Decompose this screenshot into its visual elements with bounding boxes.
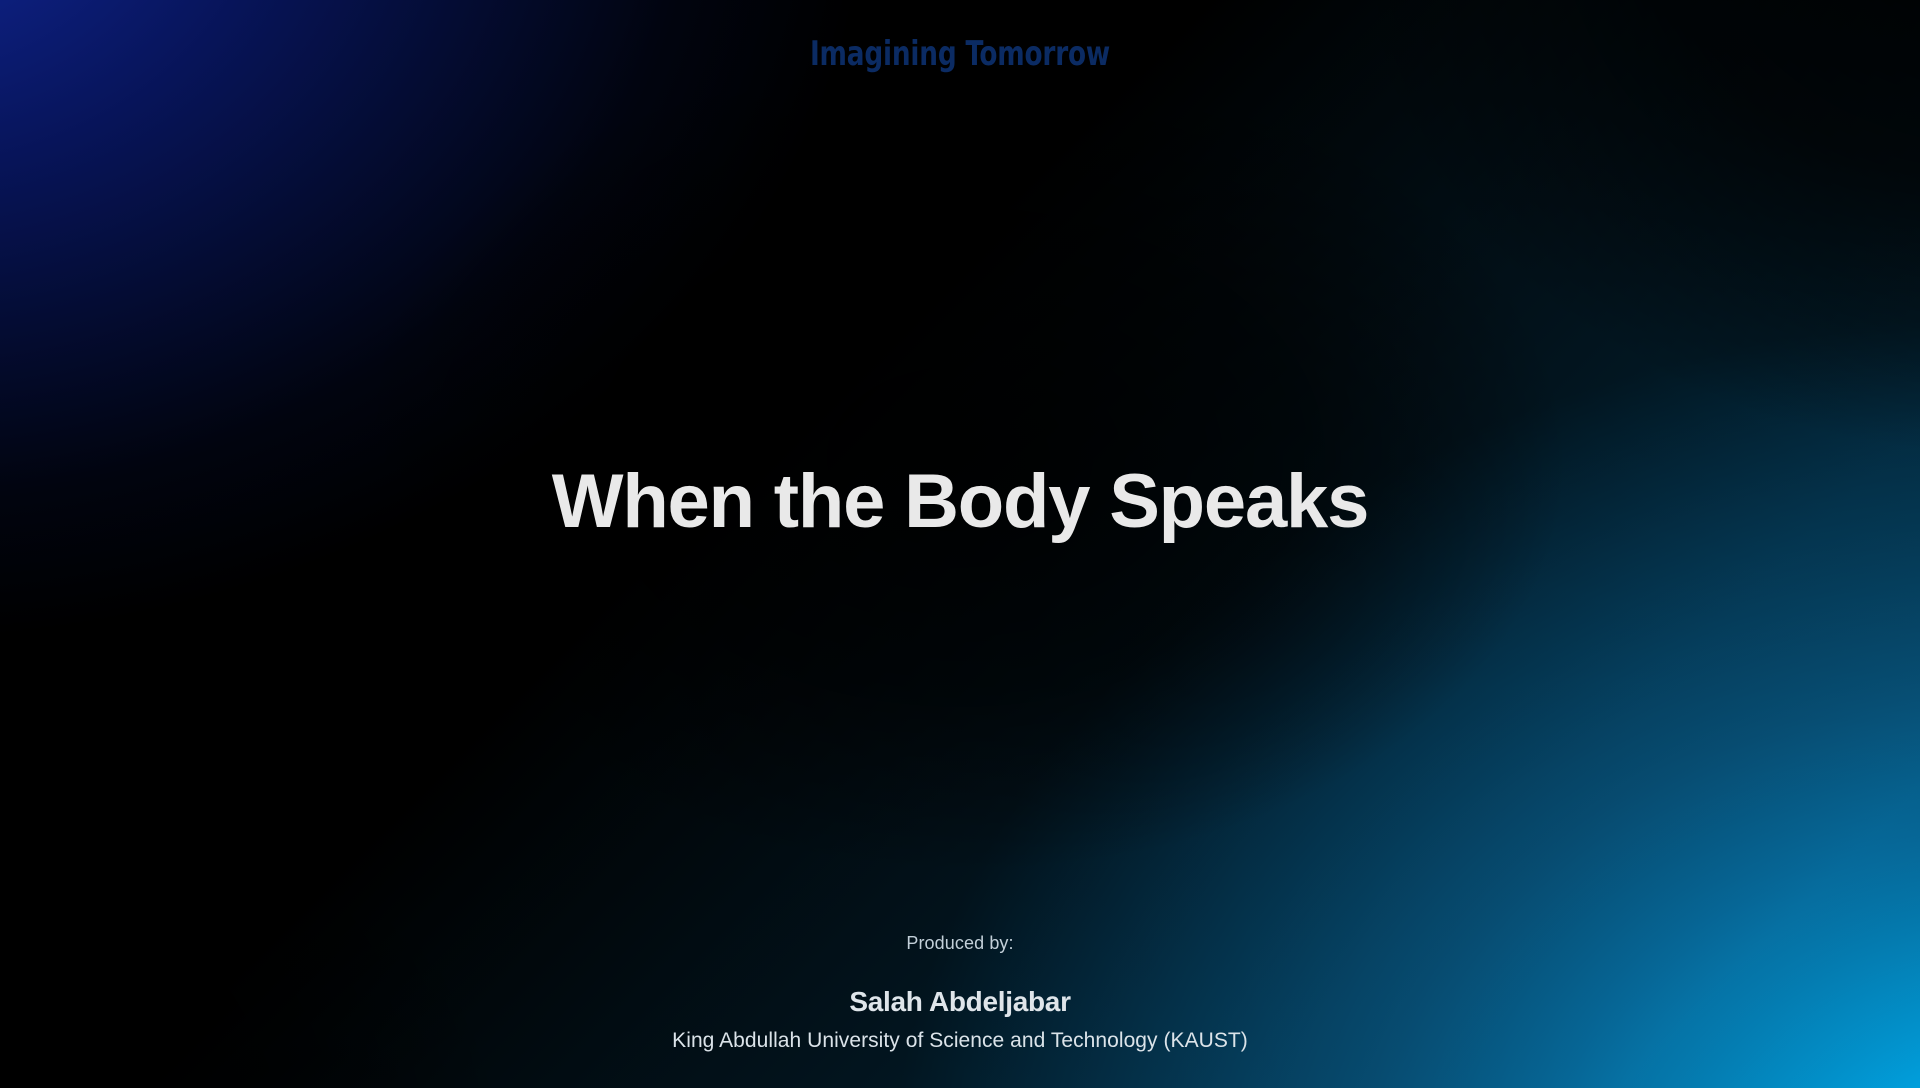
credits-spacer bbox=[0, 956, 1920, 984]
credits-author-name: Salah Abdeljabar bbox=[0, 984, 1920, 1019]
credits-block: Produced by: Salah Abdeljabar King Abdul… bbox=[0, 932, 1920, 1054]
title-slide: Imagining Tomorrow When the Body Speaks … bbox=[0, 0, 1920, 1088]
credits-affiliation: King Abdullah University of Science and … bbox=[0, 1027, 1920, 1054]
slide-content: Imagining Tomorrow When the Body Speaks … bbox=[0, 0, 1920, 1088]
page-title: When the Body Speaks bbox=[552, 462, 1368, 542]
title-block: When the Body Speaks bbox=[0, 0, 1920, 1046]
credits-label: Produced by: bbox=[0, 932, 1920, 955]
